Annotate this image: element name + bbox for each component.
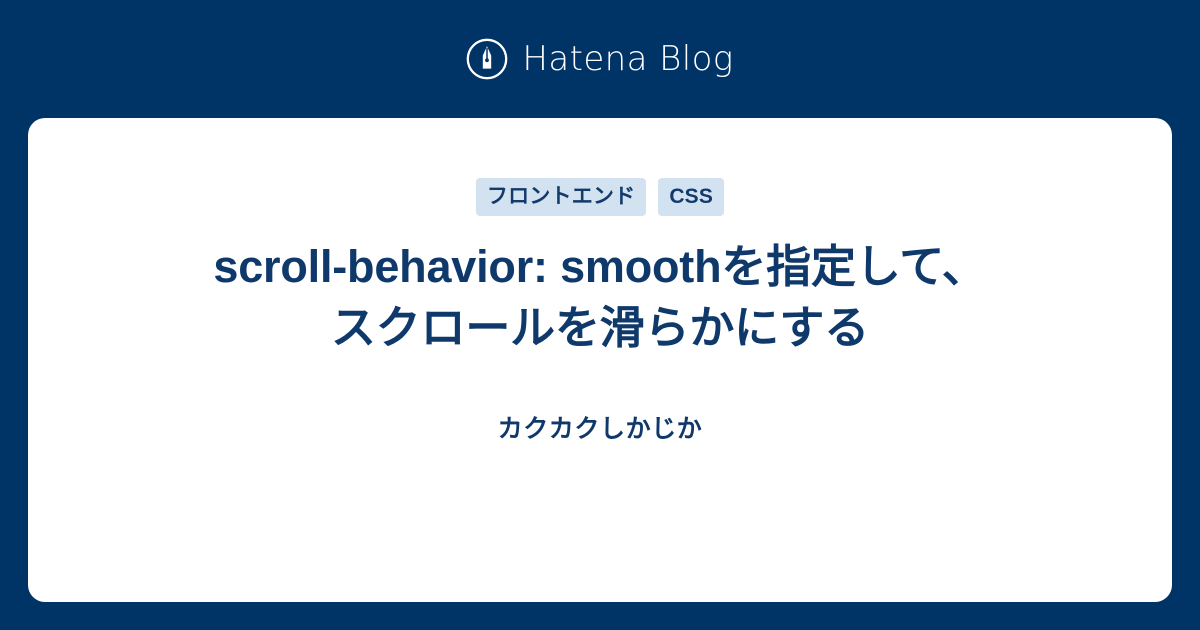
tag-list: フロントエンド CSS xyxy=(476,178,724,216)
brand-name: Hatena Blog xyxy=(522,42,733,76)
entry-title[interactable]: scroll-behavior: smoothを指定して、スクロールを滑らかにす… xyxy=(205,236,995,358)
brand-header: Hatena Blog xyxy=(0,0,1200,118)
entry-card: フロントエンド CSS scroll-behavior: smoothを指定して… xyxy=(28,118,1172,602)
hatena-logo[interactable] xyxy=(466,38,508,80)
blog-name[interactable]: カクカクしかじか xyxy=(498,414,703,444)
tag-frontend[interactable]: フロントエンド xyxy=(476,178,646,216)
hatena-pen-nib-icon xyxy=(466,38,508,80)
tag-css[interactable]: CSS xyxy=(658,178,724,216)
